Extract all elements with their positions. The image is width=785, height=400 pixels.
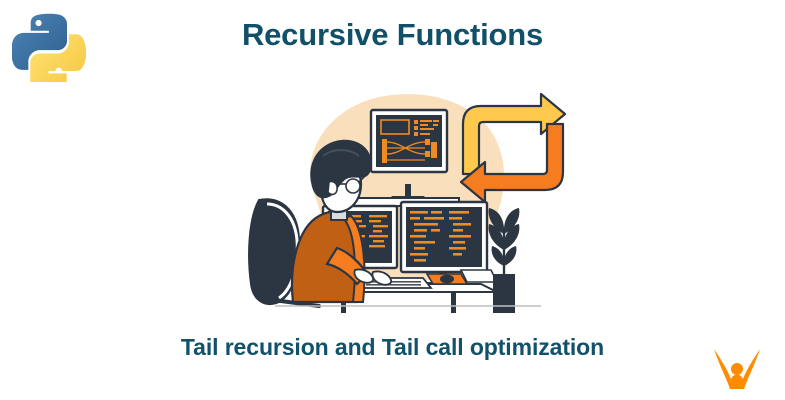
python-logo (12, 8, 86, 82)
mouse-and-pad (427, 274, 467, 284)
page-title: Recursive Functions (100, 18, 685, 52)
slide-canvas: Recursive Functions (0, 0, 785, 400)
brand-logo-icon (706, 345, 768, 395)
page-subtitle: Tail recursion and Tail call optimizatio… (60, 334, 725, 361)
illustration-developer-recursion (245, 78, 575, 313)
plant (489, 208, 520, 313)
